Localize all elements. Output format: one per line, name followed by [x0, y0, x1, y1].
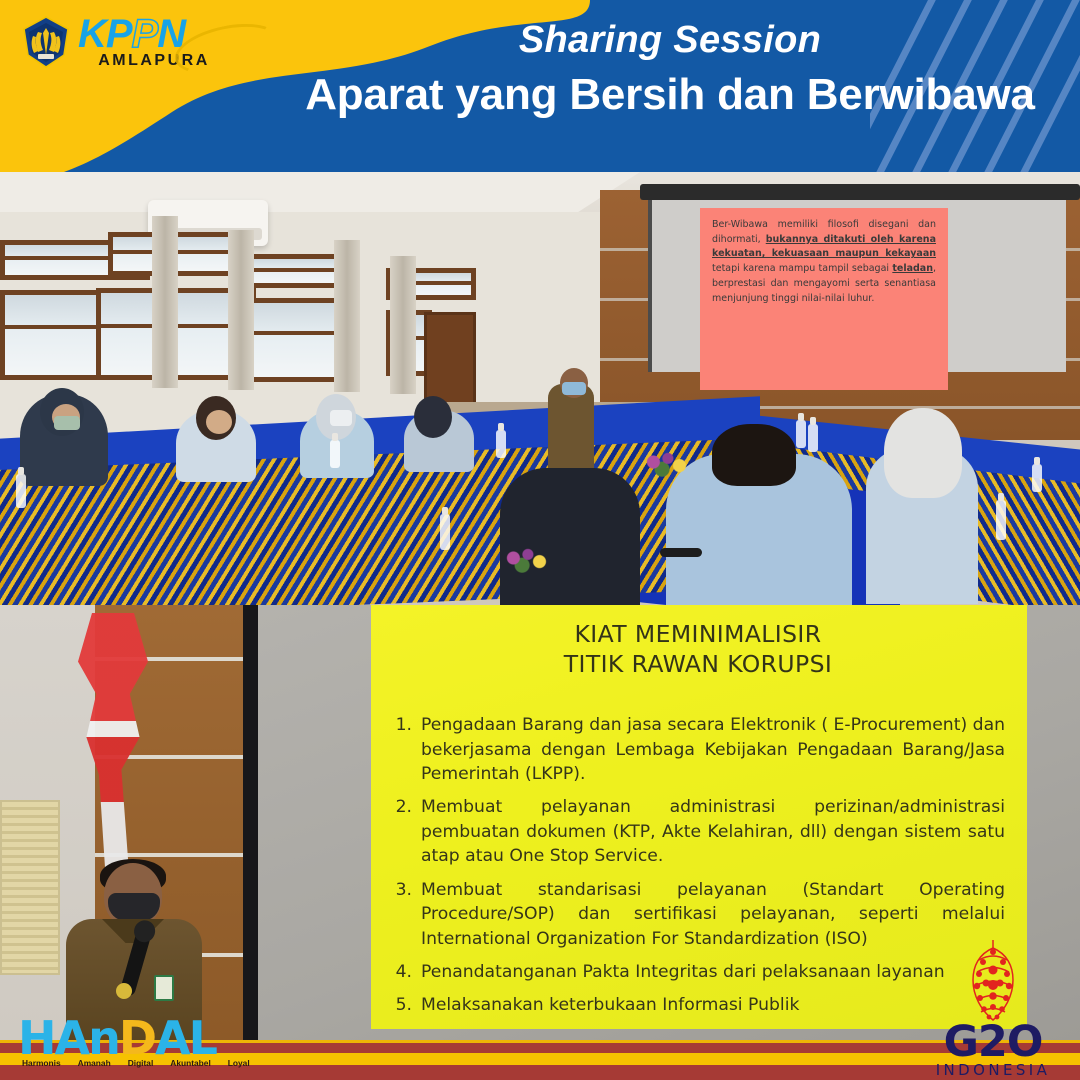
- window: [108, 232, 248, 276]
- participant-face: [206, 410, 232, 434]
- list-item-text: Melaksanakan keterbukaan Informasi Publi…: [421, 993, 1005, 1017]
- photo-meeting-room: Ber-Wibawa memiliki filosofi disegani da…: [0, 172, 1080, 605]
- handal-part-2: n: [88, 1011, 119, 1065]
- hand-sanitizer-bottle: [996, 500, 1006, 540]
- hand-sanitizer-bottle: [496, 430, 506, 458]
- standing-ac-unit-icon: [0, 800, 60, 975]
- handal-wordmark: HAnDAL: [18, 1015, 268, 1061]
- hand-sanitizer-bottle: [330, 440, 340, 468]
- participant-head: [884, 408, 962, 498]
- list-item: 2. Membuat pelayanan administrasi perizi…: [391, 795, 1005, 868]
- list-item-text: Membuat standarisasi pelayanan (Standart…: [421, 878, 1005, 951]
- handal-value: Harmonis: [22, 1058, 61, 1068]
- handal-value: Akuntabel: [170, 1058, 211, 1068]
- curtain: [334, 240, 360, 392]
- handal-part-1: HA: [18, 1011, 88, 1065]
- face-mask-icon: [108, 893, 160, 921]
- hand-sanitizer-bottle: [440, 514, 450, 550]
- list-item-number: 2.: [391, 795, 412, 868]
- curtain: [390, 256, 416, 394]
- list-item: 3. Membuat standarisasi pelayanan (Stand…: [391, 878, 1005, 951]
- hand-sanitizer-bottle: [1032, 464, 1042, 492]
- handal-value: Amanah: [78, 1058, 111, 1068]
- poster: KPPN AMLAPURA Sharing Session Aparat yan…: [0, 0, 1080, 1080]
- list-item-text: Penandatanganan Pakta Integritas dari pe…: [421, 960, 1005, 984]
- list-item: 1. Pengadaan Barang dan jasa secara Elek…: [391, 713, 1005, 786]
- list-item: 4. Penandatanganan Pakta Integritas dari…: [391, 960, 1005, 984]
- handal-logo: HAnDAL Harmonis Amanah Digital Akuntabel…: [18, 1015, 268, 1077]
- g20-wordmark: G2O: [928, 1024, 1058, 1061]
- participant-head: [414, 396, 452, 438]
- uniform-emblem-pin: [116, 983, 132, 999]
- header-titles: Sharing Session Aparat yang Bersih dan B…: [300, 20, 1040, 120]
- list-item: 5. Melaksanakan keterbukaan Informasi Pu…: [391, 993, 1005, 1017]
- poster-header: KPPN AMLAPURA Sharing Session Aparat yan…: [0, 0, 1080, 172]
- microphone-on-table: [660, 548, 702, 557]
- kppn-brand-part-1: KP: [78, 12, 132, 56]
- gunungan-batik-motif-icon: [953, 938, 1033, 1024]
- hand-sanitizer-bottle: [16, 474, 26, 508]
- list-item-number: 4.: [391, 960, 412, 984]
- g20-logo: G2O INDONESIA 2022: [928, 938, 1058, 1078]
- handal-value: Loyal: [228, 1058, 250, 1068]
- yellow-slide-title-line2: TITIK RAWAN KORUPSI: [391, 649, 1005, 679]
- kppn-wordmark: KPPN AMLAPURA: [78, 14, 230, 70]
- list-item-number: 1.: [391, 713, 412, 786]
- photo-speaker: KIAT MEMINIMALISIR TITIK RAWAN KORUPSI 1…: [0, 605, 1080, 1040]
- poster-title-line1: Sharing Session: [300, 20, 1040, 62]
- curtain: [228, 230, 254, 390]
- participant-head: [712, 424, 796, 486]
- handal-part-4: AL: [155, 1011, 216, 1065]
- list-item-text: Membuat pelayanan administrasi perizinan…: [421, 795, 1005, 868]
- yellow-slide-title-line1: KIAT MEMINIMALISIR: [391, 619, 1005, 649]
- hand-sanitizer-bottle: [796, 420, 806, 448]
- flower-vase: [636, 444, 694, 480]
- screen-roller: [640, 184, 1080, 200]
- id-badge: [154, 975, 174, 1001]
- handal-values: Harmonis Amanah Digital Akuntabel Loyal: [18, 1058, 268, 1068]
- kppn-brand-part-2: P: [132, 12, 158, 56]
- list-item-text: Pengadaan Barang dan jasa secara Elektro…: [421, 713, 1005, 786]
- yellow-slide-title: KIAT MEMINIMALISIR TITIK RAWAN KORUPSI: [391, 619, 1005, 679]
- presenter-mask: [562, 382, 586, 395]
- projector-screen: Ber-Wibawa memiliki filosofi disegani da…: [640, 184, 1080, 379]
- yellow-slide-list: 1. Pengadaan Barang dan jasa secara Elek…: [391, 713, 1005, 1018]
- flower-vase: [496, 540, 554, 576]
- wall-dark-divider: [243, 605, 258, 1040]
- participant-mask: [330, 410, 352, 426]
- screen-surface: Ber-Wibawa memiliki filosofi disegani da…: [648, 200, 1066, 372]
- participant-mask: [54, 416, 80, 430]
- pink-slide-text: Ber-Wibawa memiliki filosofi disegani da…: [712, 218, 936, 306]
- list-item-number: 5.: [391, 993, 412, 1017]
- kemenkeu-emblem-icon: [20, 15, 72, 69]
- kppn-logo: KPPN AMLAPURA: [20, 6, 230, 78]
- participant-foreground: [500, 468, 640, 605]
- g20-country: INDONESIA: [928, 1061, 1058, 1079]
- poster-title-line2: Aparat yang Bersih dan Berwibawa: [300, 70, 1040, 121]
- handal-value: Digital: [128, 1058, 154, 1068]
- list-item-number: 3.: [391, 878, 412, 951]
- hand-sanitizer-bottle: [808, 424, 818, 452]
- curtain: [152, 216, 178, 388]
- pink-slide-content: Ber-Wibawa memiliki filosofi disegani da…: [700, 208, 948, 390]
- handal-part-3: D: [119, 1011, 155, 1065]
